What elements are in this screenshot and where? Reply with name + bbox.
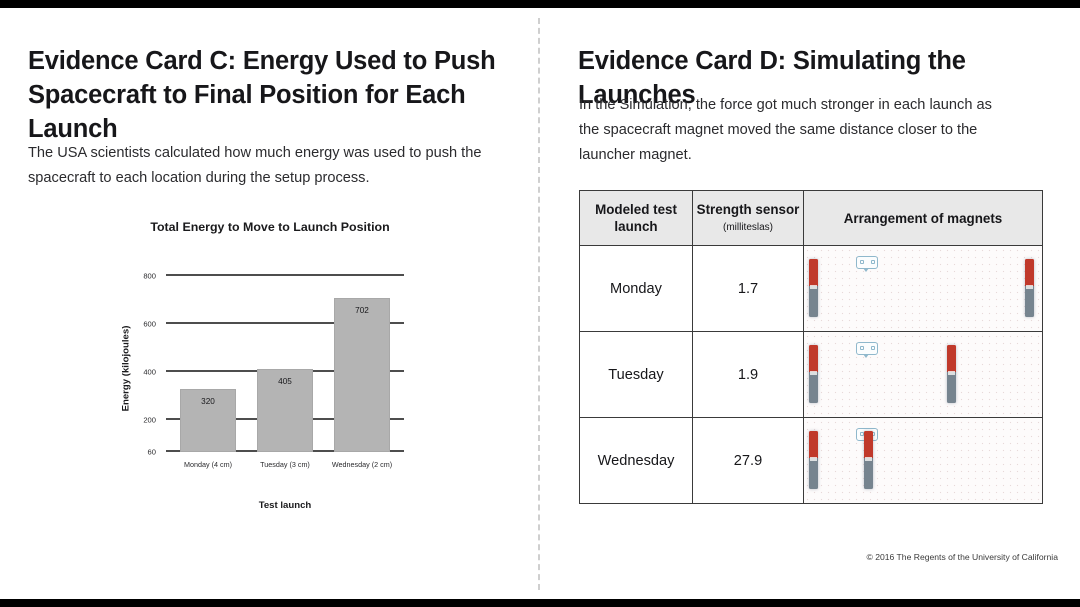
magnet-south-pole — [809, 372, 818, 403]
header-arrangement-of-magnets: Arrangement of magnets — [804, 191, 1043, 246]
callout-dot-right — [871, 260, 875, 265]
magnet-north-pole — [947, 345, 956, 372]
magnet-south-pole — [864, 458, 873, 489]
ytick-60: 60 — [148, 448, 156, 457]
magnet-seam — [948, 371, 955, 375]
cell-day-tuesday: Tuesday — [580, 332, 693, 418]
magnet-seam — [810, 371, 817, 375]
cell-day-monday: Monday — [580, 246, 693, 332]
callout-dot-left — [860, 260, 864, 265]
cell-arrangement-monday — [804, 246, 1043, 332]
magnet-south-pole — [809, 286, 818, 317]
bar-wednesday: 702 Wednesday (2 cm) — [334, 298, 390, 452]
evidence-card-c-panel: Evidence Card C: Energy Used to Push Spa… — [0, 8, 538, 599]
magnet-seam — [1026, 285, 1033, 289]
magnet-field-wednesday — [804, 419, 1042, 502]
magnet-north-pole — [1025, 259, 1034, 286]
simulation-table: Modeled test launch Strength sensor (mil… — [579, 190, 1043, 504]
xtick-tuesday: Tuesday (3 cm) — [260, 460, 310, 469]
magnet-seam — [865, 457, 872, 461]
magnet-south-pole — [947, 372, 956, 403]
bar-value-tuesday: 405 — [258, 377, 312, 386]
magnet-north-pole — [809, 259, 818, 286]
cell-day-wednesday: Wednesday — [580, 418, 693, 504]
table-header-row: Modeled test launch Strength sensor (mil… — [580, 191, 1043, 246]
magnet-north-pole — [809, 345, 818, 372]
sensor-callout-icon — [856, 256, 878, 269]
card-d-body-text: In the Simulation, the force got much st… — [579, 93, 999, 168]
chart-plot-area: 800 600 400 200 60 — [174, 274, 396, 452]
slide-canvas: Evidence Card C: Energy Used to Push Spa… — [0, 8, 1080, 599]
table-row: Tuesday 1.9 — [580, 332, 1043, 418]
magnet-seam — [810, 457, 817, 461]
cell-arrangement-tuesday — [804, 332, 1043, 418]
magnet-seam — [810, 285, 817, 289]
card-c-title: Evidence Card C: Energy Used to Push Spa… — [28, 44, 528, 146]
ytick-800: 800 — [143, 272, 156, 281]
xtick-monday: Monday (4 cm) — [184, 460, 232, 469]
header-strength-sensor: Strength sensor (milliteslas) — [693, 191, 804, 246]
ytick-200: 200 — [143, 416, 156, 425]
spacecraft-magnet-icon — [947, 345, 956, 403]
magnet-field-tuesday — [804, 333, 1042, 416]
callout-dot-right — [871, 346, 875, 351]
chart-y-axis-label: Energy (kilojoules) — [121, 326, 132, 412]
spacecraft-magnet-icon — [864, 431, 873, 489]
spacecraft-magnet-icon — [1025, 259, 1034, 317]
header-strength-sensor-main: Strength sensor — [697, 202, 800, 217]
launcher-magnet-icon — [809, 431, 818, 489]
launcher-magnet-icon — [809, 259, 818, 317]
table-row: Monday 1.7 — [580, 246, 1043, 332]
chart-title: Total Energy to Move to Launch Position — [120, 220, 420, 234]
bar-tuesday: 405 Tuesday (3 cm) — [257, 369, 313, 452]
magnet-south-pole — [809, 458, 818, 489]
xtick-wednesday: Wednesday (2 cm) — [332, 460, 392, 469]
sensor-callout-icon — [856, 342, 878, 355]
table-row: Wednesday 27.9 — [580, 418, 1043, 504]
slide-screen: Evidence Card C: Energy Used to Push Spa… — [0, 0, 1080, 607]
cell-sensor-wednesday: 27.9 — [693, 418, 804, 504]
energy-bar-chart: Total Energy to Move to Launch Position … — [120, 220, 420, 525]
ytick-600: 600 — [143, 320, 156, 329]
cell-arrangement-wednesday — [804, 418, 1043, 504]
card-c-body-text: The USA scientists calculated how much e… — [28, 141, 498, 191]
ytick-400: 400 — [143, 368, 156, 377]
magnet-field-monday — [804, 247, 1042, 330]
cell-sensor-tuesday: 1.9 — [693, 332, 804, 418]
gridline-800: 800 — [166, 274, 404, 276]
magnet-south-pole — [1025, 286, 1034, 317]
evidence-card-d-panel: Evidence Card D: Simulating the Launches… — [538, 8, 1080, 599]
bar-monday: 320 Monday (4 cm) — [180, 389, 236, 452]
chart-x-axis-label: Test launch — [174, 500, 396, 511]
magnet-north-pole — [864, 431, 873, 458]
bar-value-monday: 320 — [181, 397, 235, 406]
header-modeled-test-launch: Modeled test launch — [580, 191, 693, 246]
bar-value-wednesday: 702 — [335, 306, 389, 315]
magnet-north-pole — [809, 431, 818, 458]
copyright-notice: © 2016 The Regents of the University of … — [866, 552, 1058, 562]
cell-sensor-monday: 1.7 — [693, 246, 804, 332]
callout-dot-left — [860, 346, 864, 351]
launcher-magnet-icon — [809, 345, 818, 403]
header-strength-sensor-unit: (milliteslas) — [693, 219, 803, 236]
